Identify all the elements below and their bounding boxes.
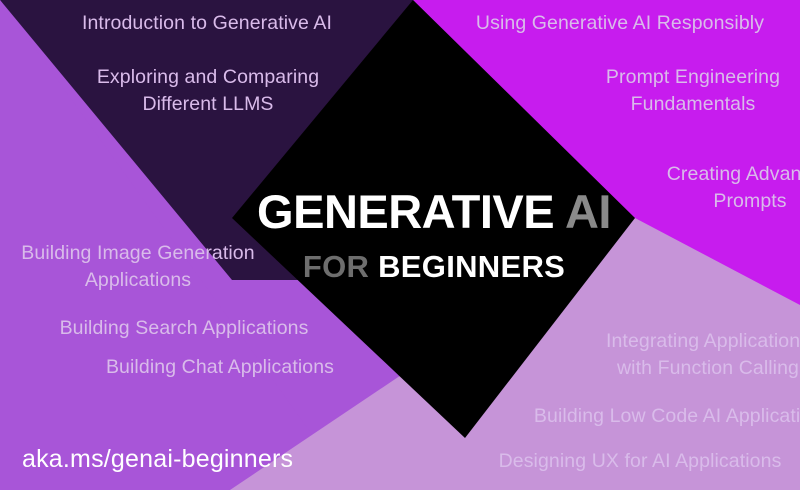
poster-title-secondary: FOR BEGINNERS (232, 250, 636, 284)
title-word-ai: AI (565, 185, 611, 238)
poster-canvas: Introduction to Generative AI Exploring … (0, 0, 800, 490)
poster-title-primary: GENERATIVE AI (232, 186, 636, 238)
lesson-label-building-chat-applications[interactable]: Building Chat Applications (72, 354, 368, 381)
lesson-label-intro-to-generative-ai[interactable]: Introduction to Generative AI (40, 10, 374, 37)
title-word-generative: GENERATIVE (257, 185, 554, 238)
lesson-label-building-low-code-ai-applications[interactable]: Building Low Code AI Applications (518, 403, 800, 430)
lesson-label-creating-advanced-prompts[interactable]: Creating Advanced Prompts (652, 161, 800, 215)
lesson-label-designing-ux-for-ai-applications[interactable]: Designing UX for AI Applications (474, 448, 800, 475)
poster-title-block: GENERATIVE AI FOR BEGINNERS (232, 186, 636, 284)
lesson-label-prompt-engineering-fundamentals[interactable]: Prompt Engineering Fundamentals (570, 64, 800, 118)
title-word-beginners: BEGINNERS (378, 249, 565, 284)
lesson-label-integrating-applications-function-calling[interactable]: Integrating Applications with Function C… (576, 328, 800, 382)
poster-url-link[interactable]: aka.ms/genai-beginners (22, 444, 293, 474)
lesson-label-exploring-comparing-llms[interactable]: Exploring and Comparing Different LLMS (48, 64, 368, 118)
lesson-label-using-generative-ai-responsibly[interactable]: Using Generative AI Responsibly (448, 10, 792, 37)
lesson-label-building-search-applications[interactable]: Building Search Applications (24, 315, 344, 342)
title-word-for: FOR (303, 249, 369, 284)
